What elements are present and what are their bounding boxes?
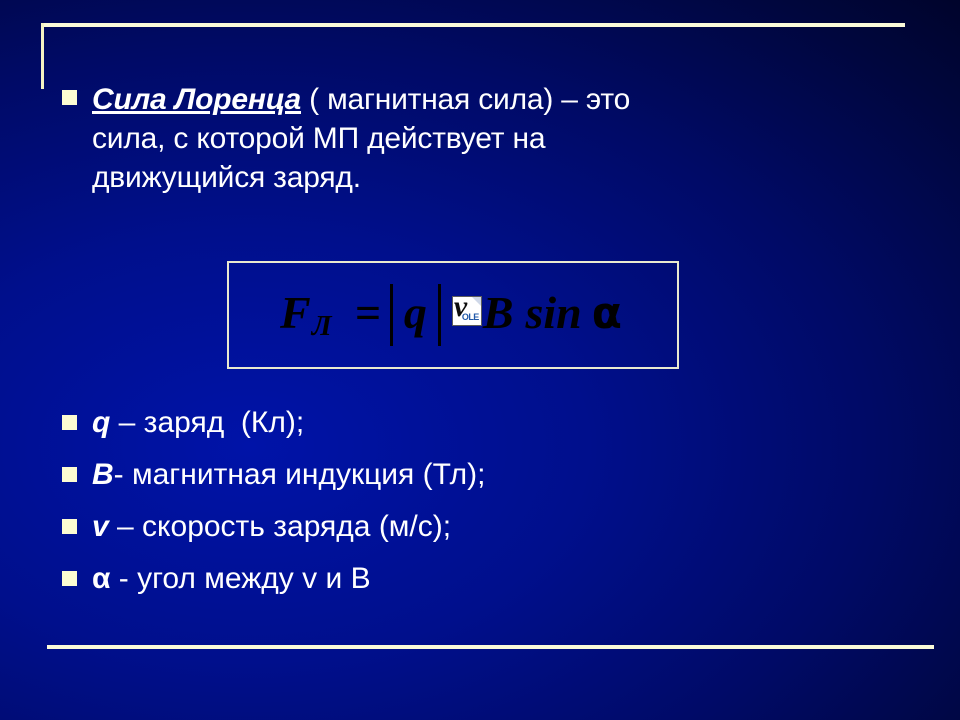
ole-tag-label: OLE	[462, 313, 479, 322]
definition-description-q: – заряд (Кл);	[110, 406, 304, 439]
definition-symbol-alpha: α	[92, 562, 110, 595]
formula-angle-alpha: α	[592, 292, 622, 336]
bullet-square-icon	[62, 90, 77, 105]
definition-symbol-v: v	[92, 510, 109, 543]
definition-symbol-B: B	[92, 458, 114, 491]
intro-bullet-item: Сила Лоренца ( магнитная сила) – это сил…	[62, 80, 682, 197]
definition-text-q: q – заряд (Кл);	[92, 404, 304, 442]
formula-inner: FЛ=qvOLEBsinα	[229, 263, 677, 367]
formula-sin: sin	[526, 290, 582, 336]
formula-abs-bar-right	[438, 284, 441, 346]
definition-symbol-q: q	[92, 406, 110, 439]
formula-box: FЛ=qvOLEBsinα	[227, 261, 679, 369]
definition-row-alpha: α - угол между v и B	[62, 560, 762, 600]
formula-charge-q: q	[400, 290, 431, 336]
lorentz-force-term: Сила Лоренца	[92, 83, 301, 116]
ole-corner-fold-icon	[472, 297, 481, 306]
definition-text-B: B- магнитная индукция (Тл);	[92, 456, 485, 494]
formula-symbol-F: F	[280, 290, 311, 336]
definition-row-q: q – заряд (Кл);	[62, 404, 762, 444]
formula-induction-B: B	[483, 290, 514, 336]
definition-row-B: B- магнитная индукция (Тл);	[62, 456, 762, 496]
slide-content: Сила Лоренца ( магнитная сила) – это сил…	[0, 0, 960, 720]
formula-subscript-L: Л	[312, 312, 332, 341]
definition-text-alpha: α - угол между v и B	[92, 560, 371, 598]
slide-canvas: Сила Лоренца ( магнитная сила) – это сил…	[0, 0, 960, 720]
ole-object-placeholder-icon: vOLE	[452, 296, 482, 326]
definition-description-v: – скорость заряда (м/с);	[109, 510, 451, 543]
formula-abs-bar-left	[390, 284, 393, 346]
lorentz-force-formula: FЛ=qvOLEBsinα	[280, 282, 622, 344]
bullet-square-icon	[62, 571, 77, 586]
definition-text-v: v – скорость заряда (м/с);	[92, 508, 451, 546]
definition-row-v: v – скорость заряда (м/с);	[62, 508, 762, 548]
intro-paragraph: Сила Лоренца ( магнитная сила) – это сил…	[92, 80, 682, 197]
formula-equals-sign: =	[355, 290, 381, 336]
definition-description-alpha: - угол между v и B	[110, 562, 370, 595]
definition-description-B: - магнитная индукция (Тл);	[114, 458, 486, 491]
bullet-square-icon	[62, 519, 77, 534]
definition-list: q – заряд (Кл); B- магнитная индукция (Т…	[62, 404, 762, 612]
bullet-square-icon	[62, 415, 77, 430]
bullet-square-icon	[62, 467, 77, 482]
